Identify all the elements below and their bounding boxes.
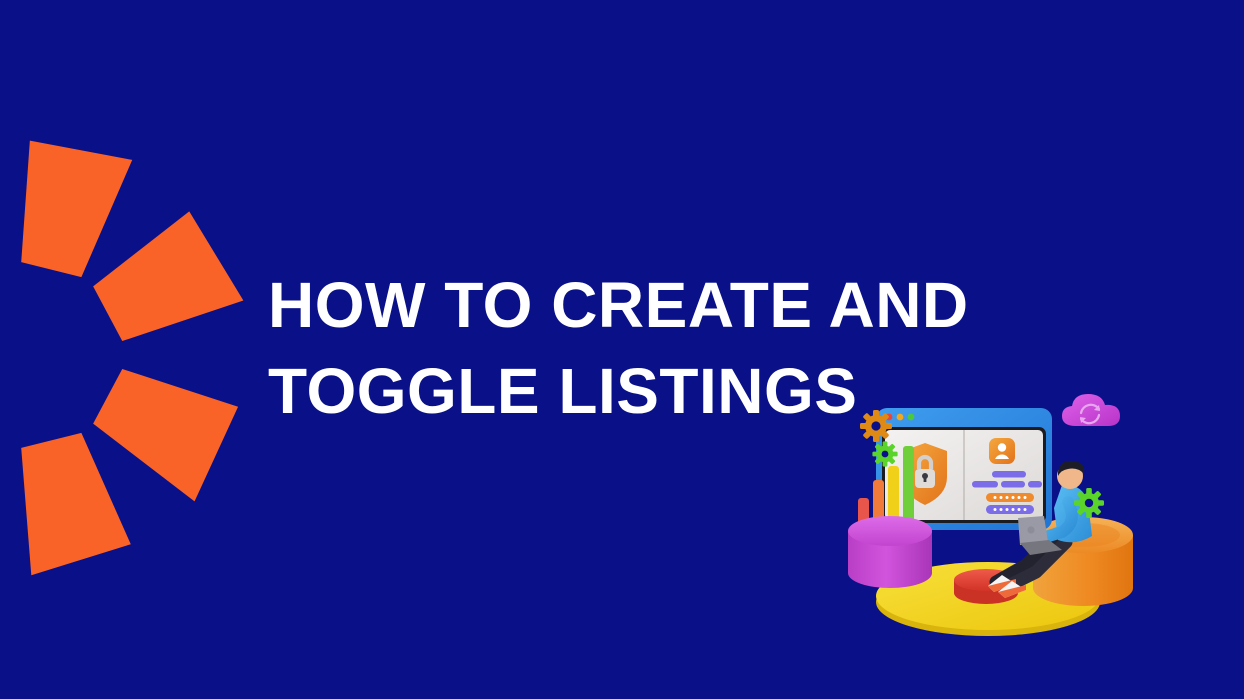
gear-orange-icon [860, 410, 892, 442]
gear-green-right-icon [1074, 488, 1104, 518]
slide-canvas: HOW TO CREATE AND TOGGLE LISTINGS [0, 0, 1244, 699]
form-bar [1028, 481, 1042, 488]
password-field-purple [986, 505, 1034, 514]
browser-window [876, 408, 1052, 530]
form-bar [972, 481, 998, 488]
gear-green-small-icon [872, 441, 897, 466]
maximize-dot [908, 414, 915, 421]
headline-line-1: HOW TO CREATE AND [268, 262, 1008, 348]
cloud-sync-icon [1062, 394, 1120, 426]
brand-logo-icon [0, 110, 275, 600]
user-avatar-icon [989, 438, 1015, 464]
form-bar [1001, 481, 1025, 488]
form-bar [992, 471, 1026, 478]
hero-illustration [830, 390, 1190, 640]
password-field-orange [986, 493, 1034, 502]
browser-traffic-dots [886, 414, 915, 421]
minimize-dot [897, 414, 904, 421]
